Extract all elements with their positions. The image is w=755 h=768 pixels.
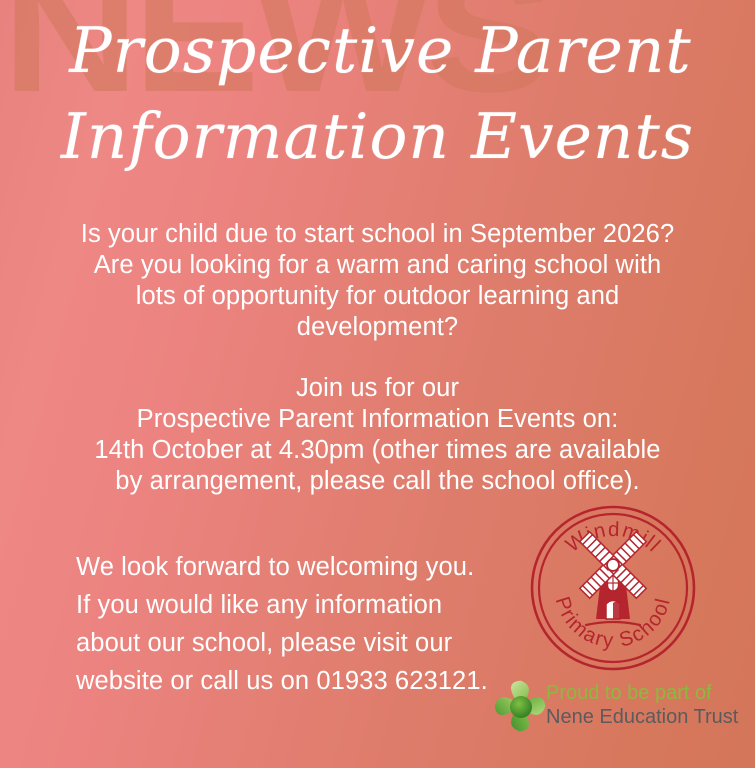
closing-line: We look forward to welcoming you. xyxy=(76,548,515,586)
closing-line: about our school, please visit our xyxy=(76,624,515,662)
intro-line: lots of opportunity for outdoor learning… xyxy=(26,281,729,312)
details-line: Prospective Parent Information Events on… xyxy=(16,404,739,435)
title-line-2: Information Events xyxy=(0,94,755,180)
school-logo: Windmill Primary School xyxy=(528,503,698,673)
page-title: Prospective Parent Information Events xyxy=(0,8,755,180)
trust-tagline: Proud to be part of xyxy=(546,681,746,705)
intro-paragraph: Is your child due to start school in Sep… xyxy=(0,219,755,343)
closing-line: If you would like any information xyxy=(76,586,515,624)
trust-logo: Proud to be part of Nene Education Trust xyxy=(492,676,744,738)
intro-line: development? xyxy=(26,312,729,343)
poster-canvas: NEWS Prospective Parent Information Even… xyxy=(0,0,755,768)
trust-name: Nene Education Trust xyxy=(546,705,746,730)
details-line: 14th October at 4.30pm (other times are … xyxy=(16,435,739,466)
details-line: Join us for our xyxy=(16,373,739,404)
event-details-paragraph: Join us for our Prospective Parent Infor… xyxy=(0,373,755,497)
trust-logo-text: Proud to be part of Nene Education Trust xyxy=(546,681,746,730)
windmill-badge-icon: Windmill Primary School xyxy=(528,503,698,673)
details-line: by arrangement, please call the school o… xyxy=(16,466,739,497)
windmill-illustration xyxy=(580,532,646,625)
intro-line: Are you looking for a warm and caring sc… xyxy=(26,250,729,281)
title-line-1: Prospective Parent xyxy=(0,8,755,94)
intro-line: Is your child due to start school in Sep… xyxy=(26,219,729,250)
closing-line: website or call us on 01933 623121. xyxy=(76,662,515,700)
nene-pinwheel-icon xyxy=(492,678,548,734)
